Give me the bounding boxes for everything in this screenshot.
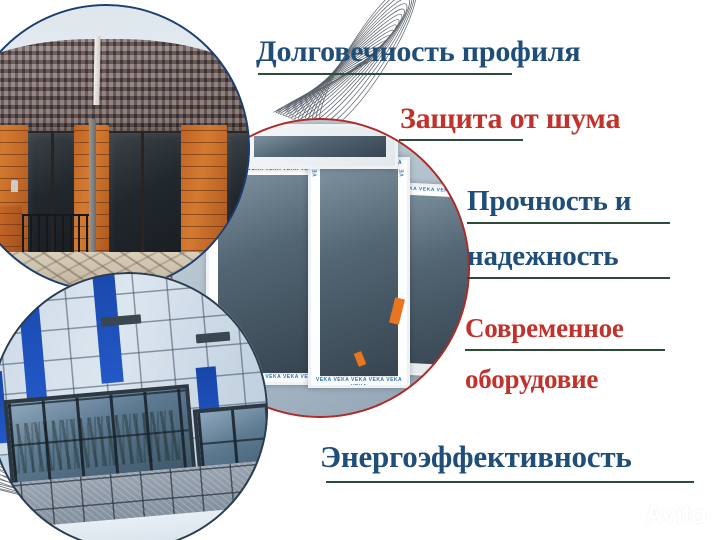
- veka-text: VEKA: [400, 169, 406, 177]
- photo-circle-house: [0, 4, 250, 292]
- headline-modern: Современное: [465, 315, 624, 342]
- house-window-right: [224, 131, 250, 267]
- headline-underline-1: [258, 73, 512, 75]
- headline-underline-6: [326, 481, 694, 483]
- advertisement-banner: VEKA VEKA VEKA VEKA VEKA VEKA VEKA VEKA …: [0, 0, 720, 540]
- headline-reliability: надежность: [467, 242, 618, 271]
- headline-underline-2: [399, 139, 523, 141]
- wall-lamp: [11, 180, 18, 192]
- avito-watermark-text: Avito: [644, 499, 706, 530]
- headline-equipment: оборудовие: [465, 366, 598, 393]
- avito-watermark: Avito: [615, 499, 706, 530]
- avito-dots-icon: [615, 504, 641, 526]
- headline-noise-protection: Защита от шума: [400, 104, 620, 134]
- window-glass: [254, 136, 386, 157]
- photo-facade-image: [0, 272, 268, 540]
- headline-durability: Долговечность профиля: [256, 37, 580, 67]
- headline-strength: Прочность и: [467, 187, 631, 216]
- veka-film-bottom: VEKA VEKA VEKA VEKA VEKA VEKA: [311, 377, 407, 385]
- veka-transom-unit: [242, 124, 398, 169]
- window-mullion: [141, 131, 144, 263]
- house-window-center: [106, 131, 188, 267]
- photo-house-image: [0, 4, 250, 292]
- veka-text: VEKA: [313, 169, 319, 177]
- headline-underline-5: [465, 349, 665, 351]
- veka-film-edge-right: VEKA: [398, 169, 407, 385]
- tile-roof: [0, 39, 250, 137]
- window-glass: [320, 169, 398, 376]
- headline-energy-efficiency: Энергоэффективность: [320, 441, 632, 472]
- photo-circle-facade: [0, 272, 268, 540]
- headline-underline-3: [467, 222, 670, 224]
- headline-underline-4: [467, 277, 670, 279]
- veka-film-edge-left: VEKA: [311, 169, 320, 385]
